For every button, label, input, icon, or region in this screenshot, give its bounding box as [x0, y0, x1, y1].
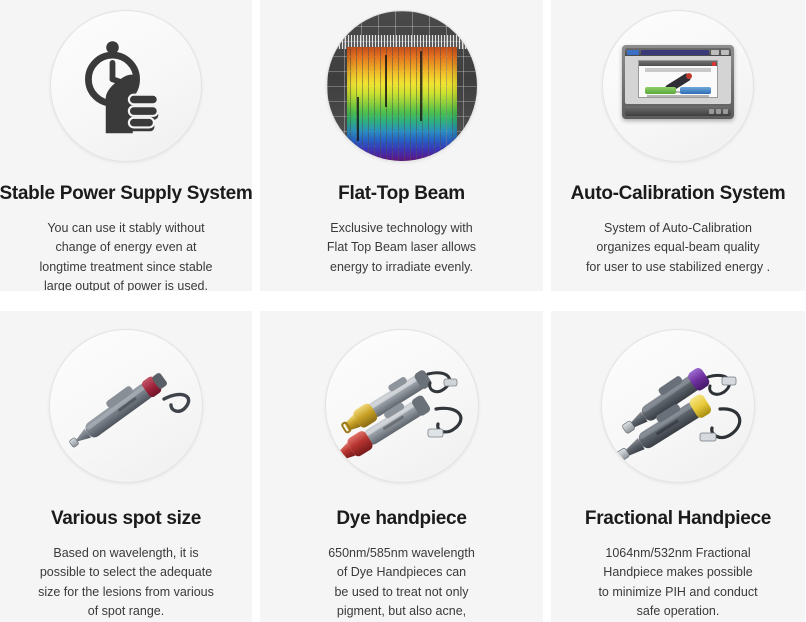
feature-card-auto-calibration-system[interactable]: Auto-Calibration System System of Auto-C…: [551, 0, 805, 291]
card-title: Stable Power Supply System: [0, 184, 252, 205]
cancel-button: [680, 87, 711, 94]
bezel-button: [716, 109, 721, 114]
console-screen: [625, 48, 731, 104]
toolbar-chip: [721, 50, 729, 55]
icon-circle-beam-profile: [326, 10, 478, 162]
dialog-titlebar: [639, 61, 717, 66]
stopwatch-thumbs-up-icon: [73, 33, 179, 139]
confirm-button: [645, 87, 676, 94]
icon-circle-dye-handpieces: [325, 329, 479, 483]
card-title: Various spot size: [51, 509, 201, 530]
close-icon: [712, 62, 716, 66]
toolbar-progress: [641, 50, 709, 55]
bezel-button: [709, 109, 714, 114]
console-bezel: [625, 106, 731, 116]
card-title: Dye handpiece: [336, 509, 466, 530]
beam-streak: [357, 97, 359, 141]
feature-card-flat-top-beam[interactable]: Flat-Top Beam Exclusive technology with …: [260, 0, 543, 291]
beam-streak: [420, 51, 422, 121]
icon-circle-fractional-handpieces: [601, 329, 755, 483]
feature-card-fractional-handpiece[interactable]: Fractional Handpiece 1064nm/532nm Fracti…: [551, 311, 805, 622]
card-body: 650nm/585nm wavelength of Dye Handpieces…: [299, 544, 505, 622]
bezel-button: [723, 109, 728, 114]
text-line: [647, 95, 709, 97]
dialog-buttons: [645, 87, 711, 94]
card-title: Auto-Calibration System: [571, 184, 786, 205]
feature-card-stable-power-supply-system[interactable]: Stable Power Supply System You can use i…: [0, 0, 252, 291]
card-body: System of Auto-Calibration organizes equ…: [572, 219, 784, 277]
touchscreen-console-icon: [622, 45, 734, 119]
dye-handpiece-pair-icon: [332, 347, 472, 465]
card-body: You can use it stably without change of …: [25, 219, 226, 291]
icon-circle-stopwatch: [50, 10, 202, 162]
card-title: Fractional Handpiece: [585, 509, 771, 530]
toolbar-chip: [627, 50, 639, 55]
card-body: 1064nm/532nm Fractional Handpiece makes …: [584, 544, 771, 622]
toolbar-chip: [711, 50, 719, 55]
beam-surface-plot: [347, 47, 457, 161]
icon-circle-laser-handpiece: [49, 329, 203, 483]
card-title: Flat-Top Beam: [338, 184, 465, 205]
feature-card-dye-handpiece[interactable]: Dye handpiece 650nm/585nm wavelength of …: [260, 311, 543, 622]
console-toolbar: [625, 48, 731, 56]
icon-circle-console: [602, 10, 754, 162]
feature-card-various-spot-size[interactable]: Various spot size Based on wavelength, i…: [0, 311, 252, 622]
laser-handpiece-icon: [59, 351, 193, 461]
card-body: Exclusive technology with Flat Top Beam …: [313, 219, 490, 277]
fractional-handpiece-pair-icon: [608, 347, 748, 465]
card-body: Based on wavelength, it is possible to s…: [24, 544, 228, 622]
calibration-dialog: [638, 60, 718, 98]
dialog-heading: [645, 68, 711, 72]
beam-profile-graph-icon: [327, 11, 477, 161]
beam-streak: [385, 55, 387, 107]
feature-card-grid: Stable Power Supply System You can use i…: [0, 0, 806, 622]
